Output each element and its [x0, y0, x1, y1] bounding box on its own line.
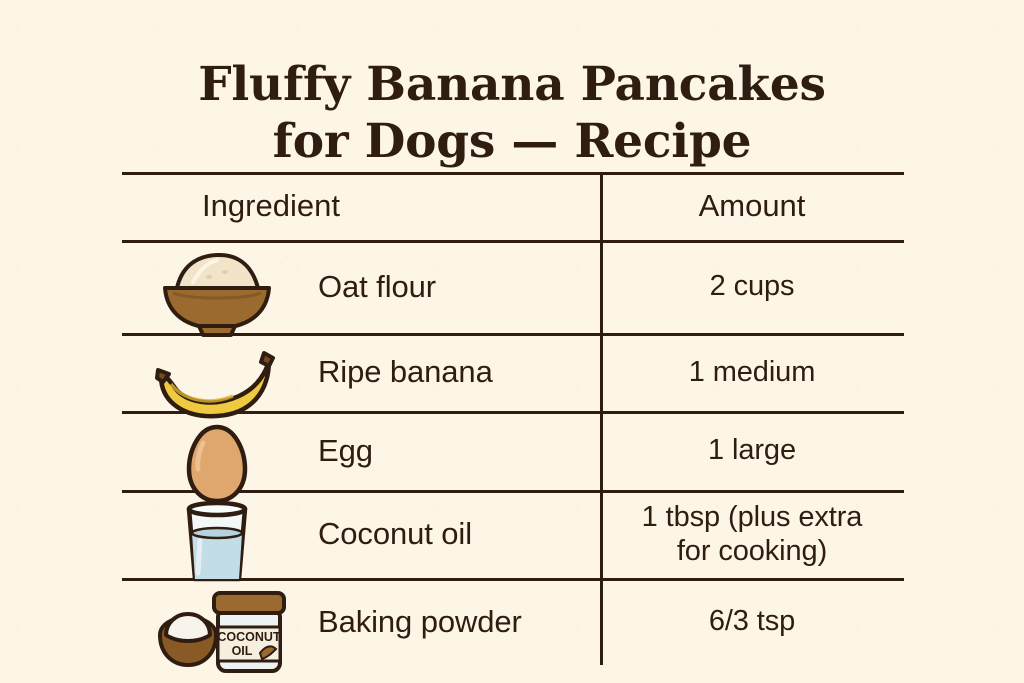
- page-title: Fluffy Banana Pancakes for Dogs — Recipe: [0, 57, 1024, 170]
- table-row: Ripe banana 1 medium: [122, 333, 904, 411]
- ingredient-name: Coconut oil: [122, 516, 600, 552]
- column-header-amount: Amount: [600, 188, 904, 224]
- table-row: Egg 1 large: [122, 411, 904, 490]
- ingredient-amount: 1 large: [600, 433, 904, 467]
- table-row: Coconut oil 1 tbsp (plus extra for cooki…: [122, 490, 904, 578]
- ingredient-amount: 1 tbsp (plus extra for cooking): [600, 500, 904, 568]
- ingredient-name: Ripe banana: [122, 354, 600, 390]
- ingredients-table: Ingredient Amount Oat flour 2 cups Ripe …: [122, 172, 904, 667]
- table-row: Oat flour 2 cups: [122, 240, 904, 333]
- ingredient-amount: 2 cups: [600, 269, 904, 303]
- ingredient-name: Baking powder: [122, 604, 600, 640]
- table-header-row: Ingredient Amount: [122, 172, 904, 240]
- ingredient-amount: 6/3 tsp: [600, 604, 904, 638]
- ingredient-name: Oat flour: [122, 269, 600, 305]
- ingredient-amount: 1 medium: [600, 355, 904, 389]
- table-row: Baking powder 6/3 tsp: [122, 578, 904, 665]
- page-title-line-2: for Dogs — Recipe: [0, 114, 1024, 170]
- recipe-card: Fluffy Banana Pancakes for Dogs — Recipe…: [0, 0, 1024, 683]
- ingredient-name: Egg: [122, 433, 600, 469]
- page-title-line-1: Fluffy Banana Pancakes: [0, 57, 1024, 113]
- column-header-ingredient: Ingredient: [122, 188, 600, 224]
